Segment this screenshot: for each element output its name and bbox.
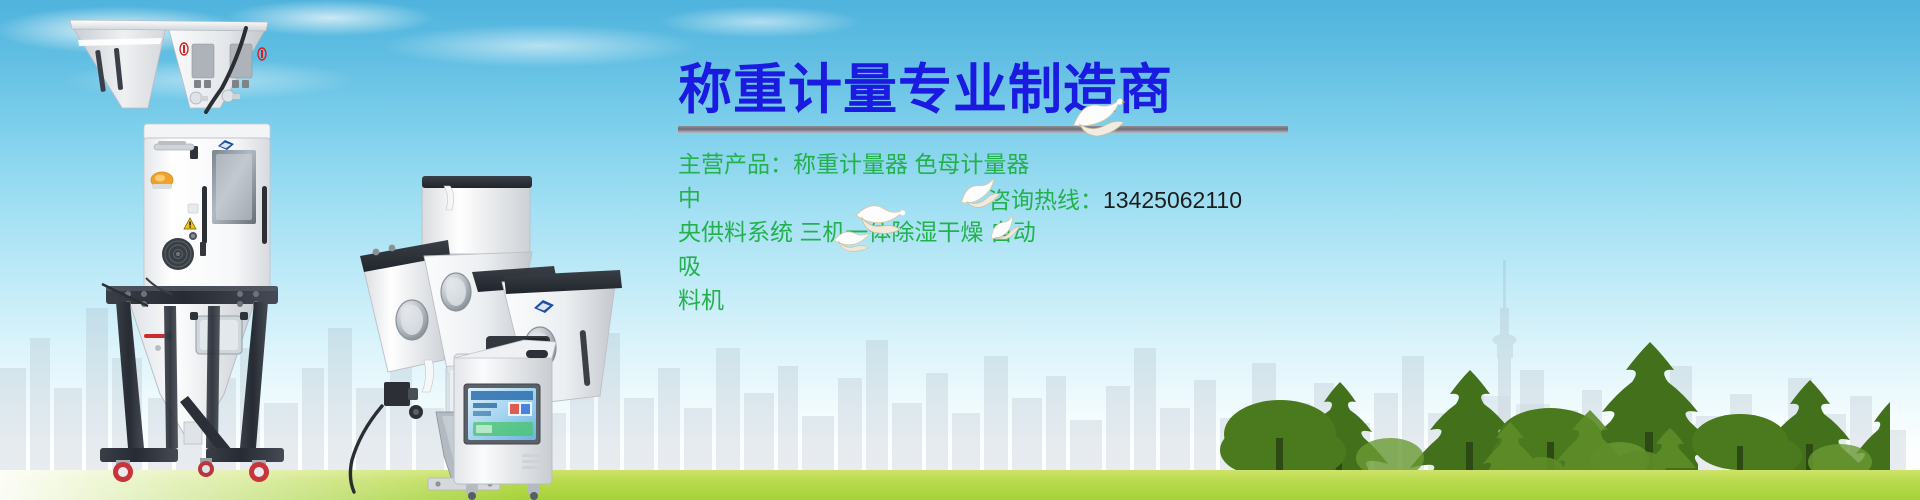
- hopper-assembly: [70, 16, 270, 126]
- caster-wheel: [198, 458, 214, 477]
- title-divider: [678, 126, 1288, 133]
- hotline-block: 咨询热线：13425062110: [988, 183, 1242, 217]
- page-title: 称重计量专业制造商: [678, 60, 1436, 120]
- hotline-number[interactable]: 13425062110: [1103, 187, 1242, 213]
- machine-gravimetric-blender: [60, 0, 310, 500]
- machine-stand: [92, 272, 292, 487]
- subtitle-line-3: 料机: [678, 283, 1038, 317]
- control-cabinet-hmi: [450, 336, 560, 500]
- subtitle-text: 主营产品：称重计量器 色母计量器 中 央供料系统 三机一体除湿干燥 自动吸 料机: [678, 147, 1038, 317]
- caster-wheel: [249, 460, 269, 482]
- hotline-label: 咨询热线：: [988, 187, 1103, 213]
- subtitle-line-2: 央供料系统 三机一体除湿干燥 自动吸: [678, 215, 1038, 283]
- promo-banner: 称重计量专业制造商 主营产品：称重计量器 色母计量器 中 央供料系统 三机一体除…: [0, 0, 1920, 500]
- subtitle-line-1: 主营产品：称重计量器 色母计量器 中: [678, 151, 1029, 211]
- caster-wheel: [113, 460, 133, 482]
